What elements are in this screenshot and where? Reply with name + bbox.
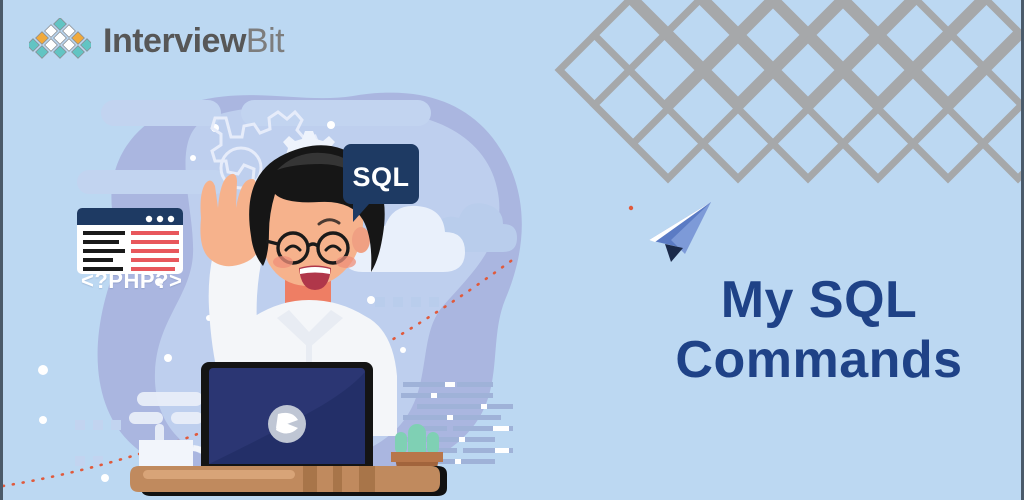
brand-name-bold: Interview (103, 22, 246, 60)
diamond-pyramid-icon (29, 18, 91, 66)
sql-bubble-label: SQL (348, 162, 414, 193)
php-label: <?PHP?> (81, 268, 182, 294)
page-title-line-2: Commands (639, 330, 999, 390)
page-title: My SQL Commands (639, 270, 999, 391)
brand-name-light: Bit (246, 22, 284, 60)
brand-logo[interactable]: InterviewBit (29, 18, 284, 66)
page-title-line-1: My SQL (639, 270, 999, 330)
banner-root: <?PHP?> SQL (0, 0, 1024, 500)
sql-speech-bubble (3, 0, 1024, 500)
brand-name: InterviewBit (103, 24, 284, 61)
